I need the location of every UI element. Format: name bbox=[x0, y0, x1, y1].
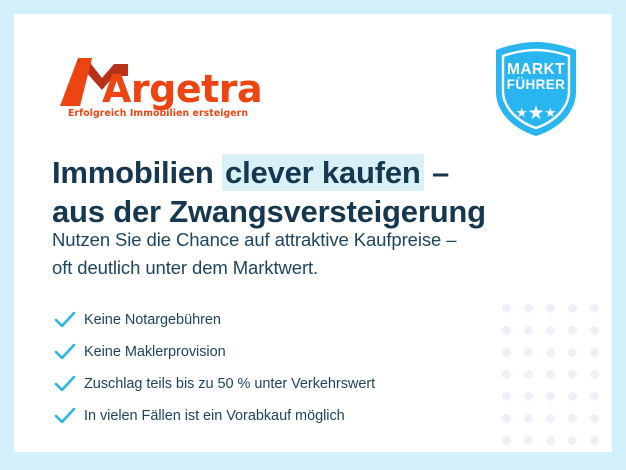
decorative-dot bbox=[590, 436, 599, 445]
decorative-dot bbox=[546, 436, 555, 445]
check-icon bbox=[54, 375, 84, 393]
check-icon bbox=[54, 407, 84, 425]
star-icon-2: ★ bbox=[527, 103, 544, 124]
list-item-label: Keine Notargebühren bbox=[84, 312, 221, 328]
decorative-dot bbox=[590, 414, 599, 423]
page-title: Immobilien clever kaufen – aus der Zwang… bbox=[52, 153, 572, 232]
decorative-dot bbox=[590, 304, 599, 313]
decorative-dot bbox=[568, 348, 577, 357]
decorative-dot bbox=[568, 392, 577, 401]
headline-highlight: clever kaufen bbox=[222, 154, 424, 191]
decorative-dot bbox=[568, 414, 577, 423]
decorative-dot bbox=[568, 370, 577, 379]
badge-text: MARKT FÜHRER bbox=[490, 62, 582, 92]
check-icon bbox=[54, 311, 84, 329]
decorative-dot bbox=[590, 326, 599, 335]
poster-canvas: Argetra Erfolgreich Immobilien ersteiger… bbox=[14, 14, 612, 452]
list-item: In vielen Fällen ist ein Vorabkauf mögli… bbox=[54, 400, 554, 432]
headline-line-1: Immobilien clever kaufen – bbox=[52, 153, 572, 192]
decorative-dot bbox=[590, 348, 599, 357]
decorative-dot bbox=[590, 392, 599, 401]
decorative-dot bbox=[568, 304, 577, 313]
list-item-label: Zuschlag teils bis zu 50 % unter Verkehr… bbox=[84, 376, 375, 392]
subheadline: Nutzen Sie die Chance auf attraktive Kau… bbox=[52, 226, 572, 282]
decorative-dot bbox=[524, 436, 533, 445]
decorative-dot bbox=[568, 326, 577, 335]
argetra-wordmark: Argetra bbox=[102, 70, 262, 108]
decorative-dot bbox=[568, 436, 577, 445]
list-item: Keine Notargebühren bbox=[54, 304, 554, 336]
marktfuehrer-badge: MARKT FÜHRER ★★★ bbox=[490, 40, 582, 138]
poster-frame: Argetra Erfolgreich Immobilien ersteiger… bbox=[0, 0, 626, 470]
list-item: Zuschlag teils bis zu 50 % unter Verkehr… bbox=[54, 368, 554, 400]
list-item-label: In vielen Fällen ist ein Vorabkauf mögli… bbox=[84, 408, 345, 424]
benefit-list: Keine NotargebührenKeine Maklerprovision… bbox=[54, 304, 554, 432]
list-item: Keine Maklerprovision bbox=[54, 336, 554, 368]
badge-line-1: MARKT bbox=[490, 62, 582, 78]
headline-text-after: – bbox=[424, 155, 449, 190]
subheadline-line-2: oft deutlich unter dem Marktwert. bbox=[52, 254, 572, 282]
badge-stars: ★★★ bbox=[490, 102, 582, 121]
check-icon bbox=[54, 343, 84, 361]
argetra-tagline: Erfolgreich Immobilien ersteigern bbox=[68, 108, 248, 119]
badge-line-2: FÜHRER bbox=[490, 78, 582, 92]
list-item-label: Keine Maklerprovision bbox=[84, 344, 226, 360]
star-icon-1: ★ bbox=[516, 105, 528, 120]
subheadline-line-1: Nutzen Sie die Chance auf attraktive Kau… bbox=[52, 226, 572, 254]
star-icon-3: ★ bbox=[545, 105, 557, 120]
argetra-logo: Argetra Erfolgreich Immobilien ersteiger… bbox=[58, 44, 258, 126]
headline-text-before: Immobilien bbox=[52, 155, 222, 190]
decorative-dot bbox=[502, 436, 511, 445]
decorative-dot bbox=[590, 370, 599, 379]
